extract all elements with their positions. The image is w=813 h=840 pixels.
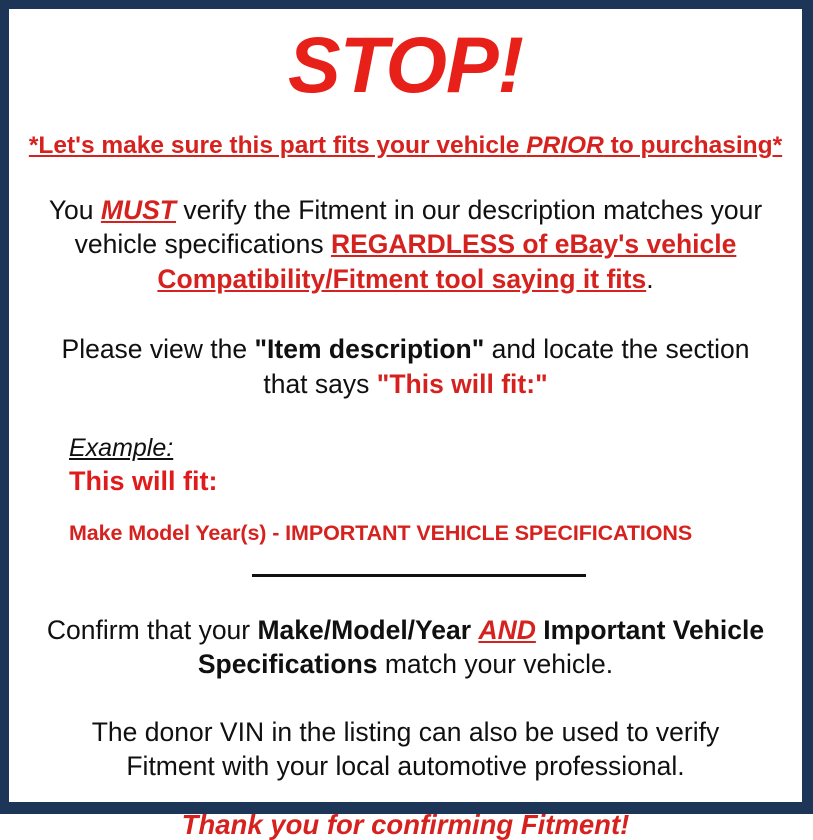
thank-you-message: Thank you for confirming Fitment! bbox=[23, 810, 788, 840]
item-description-emphasis: "Item description" bbox=[254, 334, 484, 364]
example-this-will-fit-header: This will fit: bbox=[69, 465, 788, 499]
must-verify-paragraph: You MUST verify the Fitment in our descr… bbox=[23, 193, 788, 296]
donor-vin-paragraph: The donor VIN in the listing can also be… bbox=[23, 715, 788, 784]
make-model-year-emphasis: Make/Model/Year bbox=[257, 615, 471, 645]
confirm-paragraph-part1: Confirm that your bbox=[47, 615, 258, 645]
fitment-notice-frame: STOP! *Let's make sure this part fits yo… bbox=[0, 0, 813, 814]
example-block: Example: This will fit: Make Model Year(… bbox=[23, 435, 788, 546]
confirm-match-paragraph: Confirm that your Make/Model/Year AND Im… bbox=[23, 613, 788, 682]
item-description-paragraph: Please view the "Item description" and l… bbox=[23, 332, 788, 401]
subheading-underlined-group: *Let's make sure this part fits your veh… bbox=[29, 132, 782, 159]
confirm-paragraph-part4: match your vehicle. bbox=[378, 649, 614, 679]
subheading-prior-emphasis: PRIOR bbox=[526, 132, 604, 159]
example-label: Example: bbox=[69, 435, 788, 463]
subheading-prefix: *Let's make sure this part fits your veh… bbox=[29, 132, 526, 159]
this-will-fit-quote-emphasis: "This will fit:" bbox=[377, 369, 548, 399]
must-paragraph-part1: You bbox=[49, 195, 101, 225]
must-emphasis: MUST bbox=[101, 195, 176, 225]
divider-wrapper bbox=[23, 574, 788, 584]
section-divider bbox=[252, 574, 586, 577]
and-emphasis: AND bbox=[478, 615, 535, 645]
view-paragraph-part1: Please view the bbox=[62, 334, 255, 364]
subheading-suffix: to purchasing* bbox=[604, 132, 782, 159]
stop-headline: STOP! bbox=[23, 25, 788, 104]
example-spec-line: Make Model Year(s) - IMPORTANT VEHICLE S… bbox=[69, 522, 788, 546]
must-paragraph-period: . bbox=[646, 264, 653, 294]
verify-fitment-subheading: *Let's make sure this part fits your veh… bbox=[23, 133, 788, 160]
fitment-notice-body: STOP! *Let's make sure this part fits yo… bbox=[9, 25, 802, 818]
